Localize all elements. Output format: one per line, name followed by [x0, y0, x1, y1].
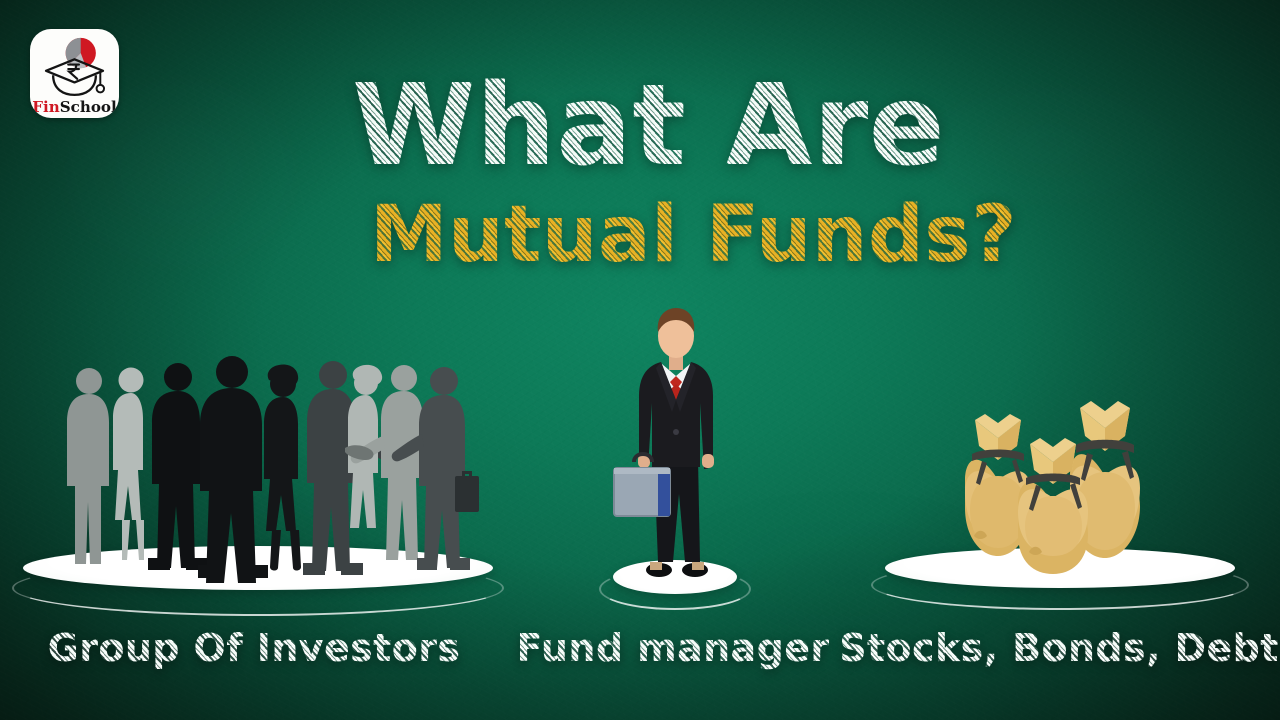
- businessman-illustration: [612, 308, 740, 588]
- svg-text:FinSchool: FinSchool: [32, 98, 117, 116]
- silhouette-figure: [303, 361, 392, 575]
- caption-group-of-investors: Group Of Investors Group Of Investors: [0, 626, 508, 670]
- finschool-logo[interactable]: FinSchool: [30, 29, 119, 118]
- silhouette-figure: [264, 365, 301, 571]
- silhouette-figure: [198, 356, 268, 583]
- jacket-button: [673, 429, 679, 435]
- caption-assets-text: Stocks, Bonds, Debt: [839, 626, 1279, 670]
- title-line1-text: What Are: [352, 61, 945, 191]
- crowd-silhouettes-illustration: [56, 358, 476, 583]
- caption-fund-manager: Fund manager Fund manager: [508, 626, 838, 670]
- silhouette-figure: [148, 363, 208, 570]
- silhouette-figure: [67, 368, 109, 564]
- briefcase-icon: [455, 471, 479, 512]
- money-bags-illustration: [930, 400, 1180, 570]
- title-line2-text: Mutual Funds?: [370, 190, 1017, 280]
- logo-text-school: School: [60, 98, 117, 116]
- caption-stocks-bonds-debt: Stocks, Bonds, Debt Stocks, Bonds, Debt: [838, 626, 1280, 670]
- caption-manager-text: Fund manager: [516, 626, 829, 670]
- silhouette-figure: [113, 368, 144, 561]
- page-title-line1: What Are What Are: [352, 66, 945, 186]
- finschool-logo-mark: FinSchool: [30, 29, 119, 118]
- caption-investors-text: Group Of Investors: [48, 626, 461, 670]
- hand: [702, 454, 714, 468]
- page-title-line2: Mutual Funds? Mutual Funds?: [370, 193, 1017, 277]
